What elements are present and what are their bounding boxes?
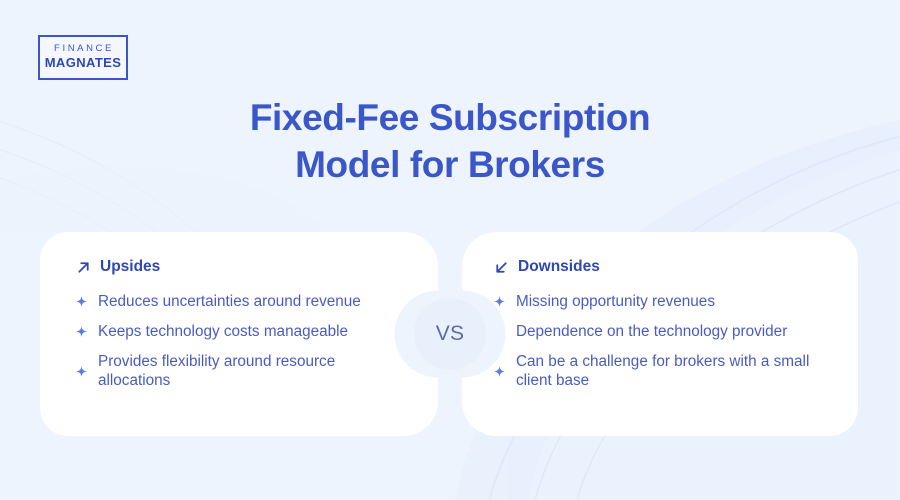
- upsides-list: Reduces uncertainties around revenue Kee…: [76, 292, 408, 390]
- sparkle-icon: [76, 296, 87, 307]
- list-item: Reduces uncertainties around revenue: [76, 292, 408, 311]
- versus-badge: VS: [414, 298, 486, 370]
- sparkle-icon: [494, 366, 505, 377]
- sparkle-icon: [494, 296, 505, 307]
- upsides-card: Upsides Reduces uncertainties around rev…: [40, 232, 438, 436]
- upsides-heading: Upsides: [76, 258, 408, 276]
- brand-logo-top-text: FINANCE: [52, 44, 114, 54]
- brand-logo-bottom-text: MAGNATES: [45, 56, 122, 71]
- list-item-text: Missing opportunity revenues: [516, 292, 715, 311]
- list-item: Can be a challenge for brokers with a sm…: [494, 352, 834, 390]
- page-title-line-1: Fixed-Fee Subscription: [0, 94, 900, 141]
- brand-logo: FINANCE MAGNATES: [38, 35, 128, 80]
- downsides-heading: Downsides: [494, 258, 834, 276]
- arrow-down-left-icon: [494, 260, 509, 275]
- sparkle-icon: [76, 326, 87, 337]
- sparkle-icon: [76, 366, 87, 377]
- page-title: Fixed-Fee Subscription Model for Brokers: [0, 94, 900, 188]
- list-item-text: Reduces uncertainties around revenue: [98, 292, 361, 311]
- list-item: Provides flexibility around resource all…: [76, 352, 408, 390]
- list-item-text: Keeps technology costs manageable: [98, 322, 348, 341]
- downsides-heading-label: Downsides: [518, 258, 600, 276]
- page-title-line-2: Model for Brokers: [0, 141, 900, 188]
- arrow-up-right-icon: [76, 260, 91, 275]
- downsides-list: Missing opportunity revenues Dependence …: [494, 292, 834, 390]
- versus-label: VS: [436, 322, 465, 346]
- list-item-text: Can be a challenge for brokers with a sm…: [516, 352, 822, 390]
- list-item-text: Provides flexibility around resource all…: [98, 352, 408, 390]
- upsides-heading-label: Upsides: [100, 258, 160, 276]
- downsides-card: Downsides Missing opportunity revenues D…: [462, 232, 858, 436]
- list-item: Dependence on the technology provider: [494, 322, 834, 341]
- list-item-text: Dependence on the technology provider: [516, 322, 787, 341]
- sparkle-icon: [494, 326, 505, 337]
- list-item: Keeps technology costs manageable: [76, 322, 408, 341]
- list-item: Missing opportunity revenues: [494, 292, 834, 311]
